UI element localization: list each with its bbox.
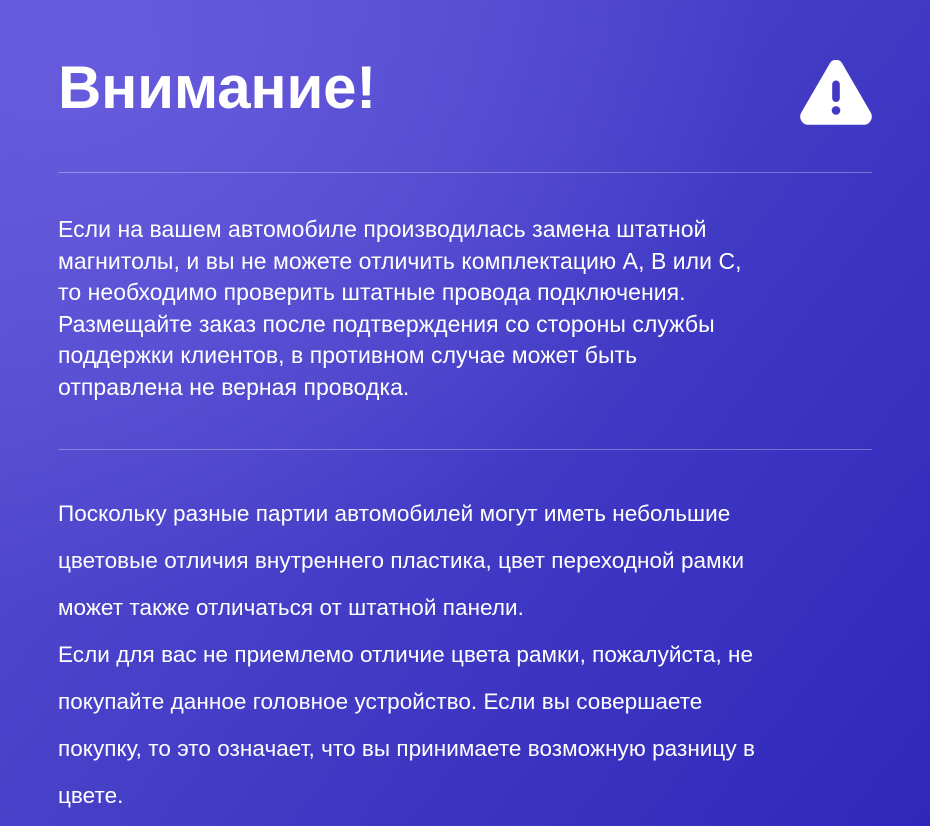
notice-color-difference-text: Поскольку разные партии автомобилей могу…: [58, 490, 888, 631]
notice-replacement-text: Если на вашем автомобиле производилась з…: [58, 214, 888, 403]
notice-purchase-consent-text: Если для вас не приемлемо отличие цвета …: [58, 631, 888, 819]
divider-top: [58, 172, 872, 173]
divider-middle: [58, 449, 872, 450]
page-title: Внимание!: [58, 52, 376, 124]
warning-triangle-icon: [800, 60, 872, 126]
banner-header: Внимание!: [58, 52, 872, 138]
notice-block-color: Поскольку разные партии автомобилей могу…: [58, 490, 888, 819]
notice-block-replacement: Если на вашем автомобиле производилась з…: [58, 214, 888, 403]
warning-banner: Внимание! Если на вашем автомобиле произ…: [0, 0, 930, 826]
